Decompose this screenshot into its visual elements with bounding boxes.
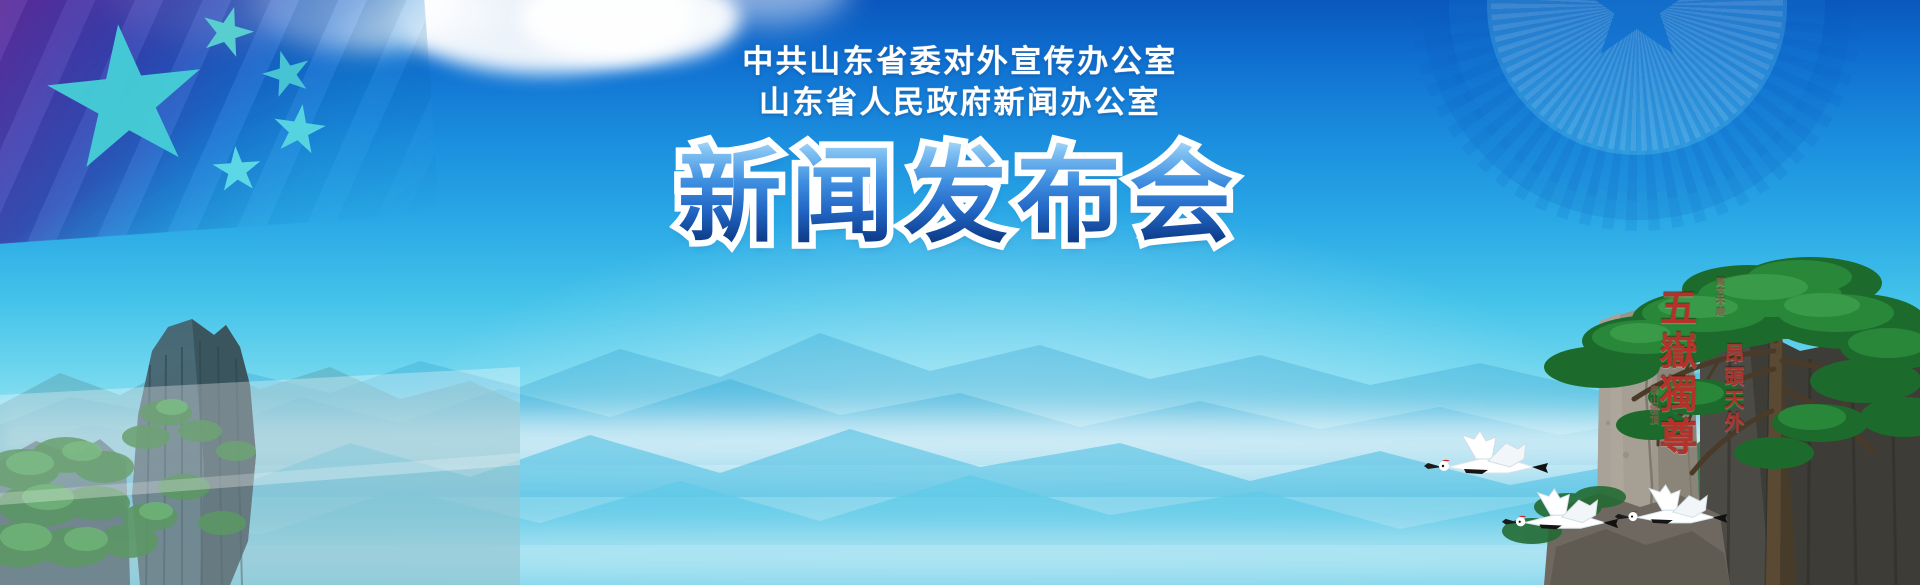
banner-headline: 新闻发布会 新闻发布会 xyxy=(677,140,1242,252)
organization-line-1: 中共山东省委对外宣传办公室 xyxy=(0,42,1920,83)
flying-crane-icon xyxy=(1422,429,1550,493)
stele-inscription-side: 昂頭天外 xyxy=(1720,343,1745,435)
flying-crane-icon xyxy=(1500,487,1620,547)
stele-inscription-small-2: 泰山極頂 xyxy=(1647,385,1658,425)
flying-crane-icon xyxy=(1612,483,1730,541)
mountain-cliff-scene xyxy=(0,255,520,585)
headline-fill-layer: 新闻发布会 xyxy=(677,135,1242,257)
organization-line-2: 山东省人民政府新闻办公室 xyxy=(0,83,1920,124)
news-conference-banner: 五嶽獨尊 昂頭天外 萬古不磨 泰山極頂 中共山东省委对外宣传办公室 山东省人民政… xyxy=(0,0,1920,585)
banner-text-block: 中共山东省委对外宣传办公室 山东省人民政府新闻办公室 新闻发布会 新闻发布会 xyxy=(0,42,1920,252)
stele-inscription-main: 五嶽獨尊 xyxy=(1653,288,1697,460)
stele-inscription-small-1: 萬古不磨 xyxy=(1713,277,1724,317)
